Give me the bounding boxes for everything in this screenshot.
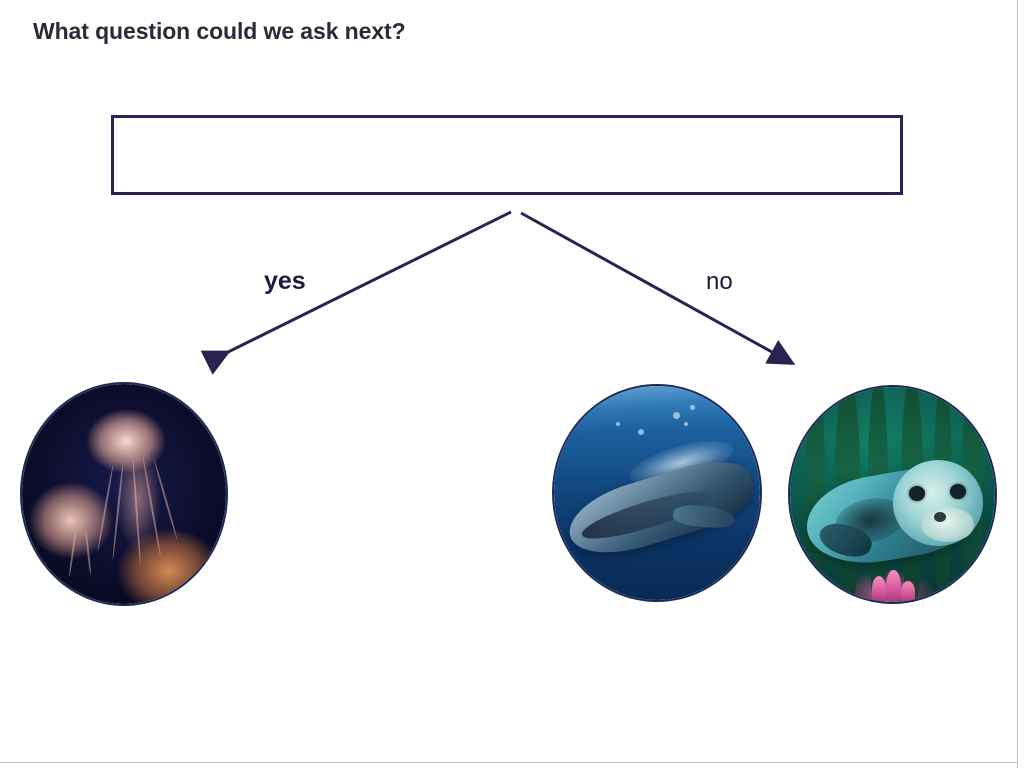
question-box-text[interactable] [114, 118, 900, 135]
frame-edge-bottom [0, 762, 1018, 763]
whale-photo[interactable] [552, 384, 762, 602]
coral [872, 576, 886, 602]
seal-eye [909, 486, 925, 501]
jellyfish-tentacle [68, 529, 77, 577]
page-title: What question could we ask next? [33, 18, 406, 45]
coral [901, 581, 915, 603]
kelp-strand [806, 387, 824, 602]
frame-edge-right [1017, 0, 1018, 768]
jellyfish-tentacle [85, 531, 92, 575]
branch-label-no: no [706, 268, 733, 296]
question-box[interactable] [111, 115, 903, 195]
bubble [684, 422, 688, 426]
coral [886, 570, 900, 602]
bubble [690, 405, 695, 410]
bubble [616, 422, 620, 426]
bubble [638, 429, 644, 435]
jellyfish-tentacle [132, 459, 141, 564]
seal-photo-inner [790, 387, 995, 602]
whale-photo-inner [554, 386, 760, 600]
arrow-down-left-icon [212, 212, 511, 360]
jellyfish-photo-inner [22, 384, 226, 604]
bubble [673, 412, 680, 419]
seal-photo[interactable] [788, 385, 997, 604]
seal-eye [950, 484, 966, 499]
branch-label-yes: yes [264, 267, 306, 296]
slide-canvas: What question could we ask next? yes no [0, 0, 1024, 768]
seal-muzzle [921, 507, 974, 541]
seal-nose [934, 512, 946, 523]
jellyfish-tentacle [96, 465, 113, 552]
jellyfish-tentacle [142, 456, 162, 556]
jellyfish-photo[interactable] [20, 382, 228, 606]
jellyfish-tentacle [112, 463, 124, 559]
arrow-down-right-icon [521, 213, 790, 362]
